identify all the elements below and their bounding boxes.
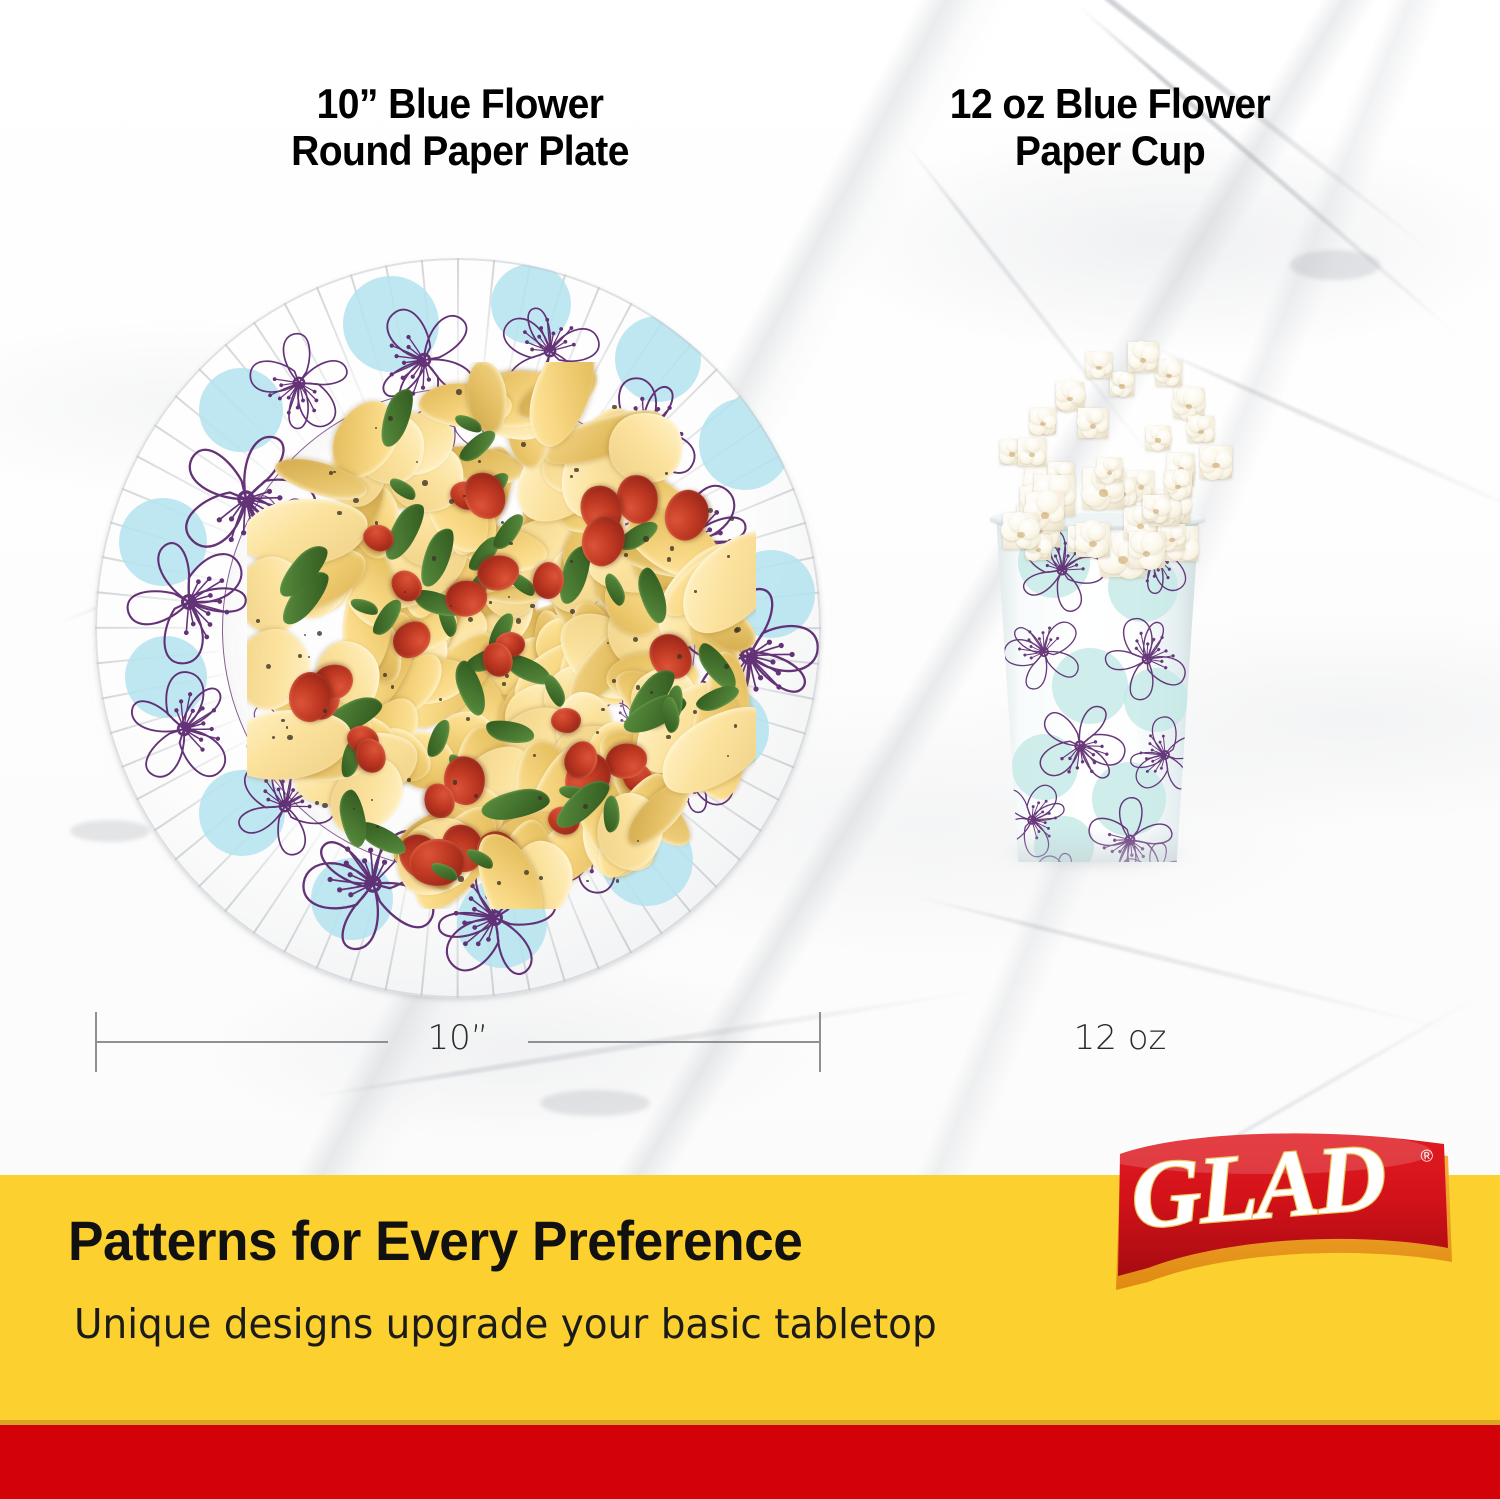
- popcorn-kernel: [1156, 360, 1182, 386]
- banner-headline: Patterns for Every Preference: [68, 1208, 802, 1273]
- paper-cup-product: [960, 330, 1260, 870]
- popcorn-kernel: [1086, 352, 1112, 378]
- popcorn-kernel: [1165, 471, 1192, 498]
- popcorn-kernel: [1174, 388, 1204, 418]
- paper-plate-product: [95, 258, 821, 998]
- popcorn-kernel: [1056, 382, 1084, 410]
- cup-base-shading: [996, 828, 1199, 862]
- glad-brand-logo: GLAD ®: [1112, 1128, 1462, 1292]
- banner-subhead: Unique designs upgrade your basic tablet…: [74, 1300, 937, 1348]
- plate-disc: [95, 258, 821, 998]
- popcorn-kernel: [1143, 495, 1169, 521]
- cup-size-label: 12 oz: [1000, 1018, 1240, 1058]
- plate-size-label: 10”: [388, 1018, 528, 1058]
- popcorn-kernel: [1076, 523, 1110, 557]
- dimension-bar-left: [96, 1041, 388, 1043]
- popcorn-kernel: [1188, 416, 1214, 442]
- popcorn-kernel: [1146, 426, 1170, 450]
- popcorn-kernel: [1003, 513, 1038, 548]
- popcorn-kernel: [1097, 458, 1121, 482]
- glad-wordmark: GLAD: [1127, 1128, 1389, 1249]
- cup-product-title: 12 oz Blue Flower Paper Cup: [868, 80, 1352, 174]
- popcorn-kernel: [1030, 408, 1056, 434]
- marble-speck: [540, 1090, 650, 1116]
- popcorn-kernel: [1078, 408, 1108, 438]
- popcorn-kernel: [1018, 438, 1046, 466]
- popcorn-kernel: [1110, 372, 1134, 396]
- product-comparison-image: 10” Blue Flower Round Paper Plate 12 oz …: [0, 0, 1500, 1499]
- popcorn-kernel: [1129, 532, 1165, 568]
- registered-mark: ®: [1420, 1146, 1434, 1166]
- plate-product-title: 10” Blue Flower Round Paper Plate: [218, 80, 702, 174]
- dimension-bar-right: [528, 1041, 820, 1043]
- marble-speck: [1290, 250, 1380, 280]
- popcorn-kernel: [1128, 342, 1158, 372]
- plate-outer-edge: [95, 258, 821, 998]
- red-footer-band: [0, 1425, 1500, 1499]
- dimension-line-icon: 10”: [95, 1012, 821, 1074]
- popcorn-kernel: [1200, 446, 1232, 478]
- cup-body: [996, 516, 1199, 862]
